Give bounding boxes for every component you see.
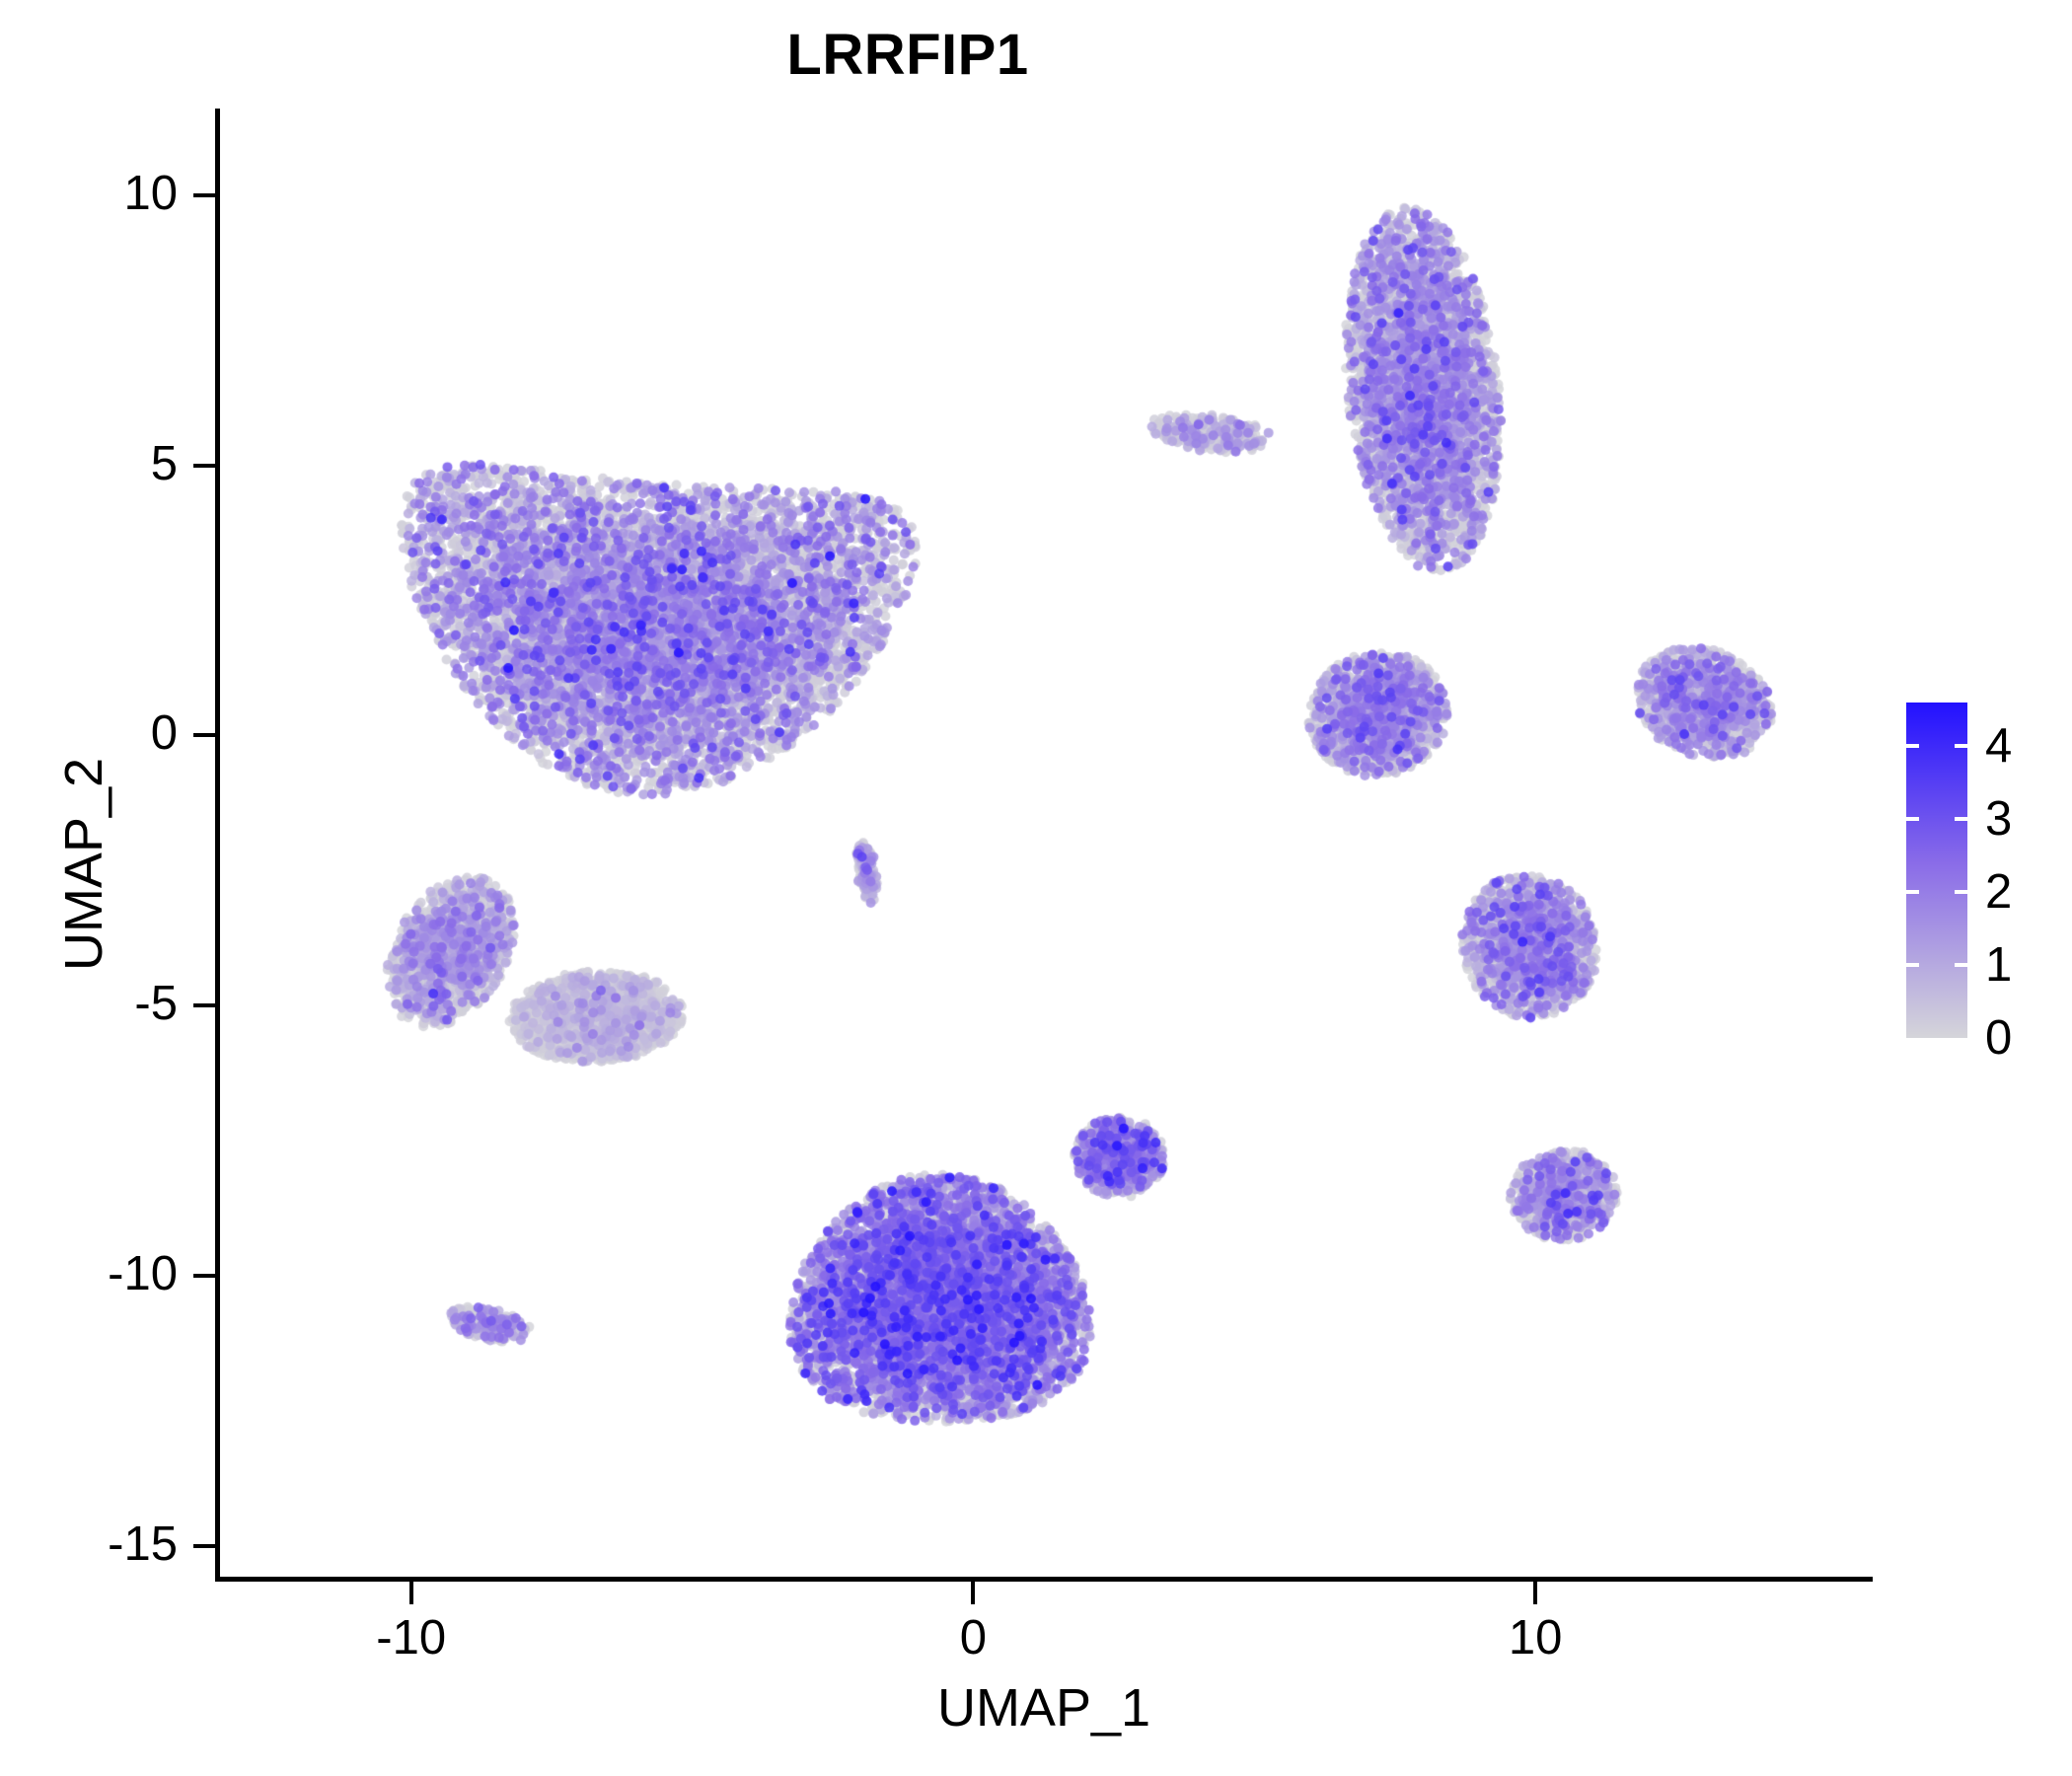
y-axis-tick-label: -5 [134,976,178,1031]
umap-feature-plot: LRRFIP1 1050-5-10-15 -10010 UMAP_1 UMAP_… [0,0,2072,1776]
x-axis-line [215,1577,1873,1582]
scatter-plot-canvas [220,109,1873,1579]
colorbar-tick-label: 1 [1985,937,2012,993]
page-title: LRRFIP1 [0,22,1815,88]
y-axis-tick-label: -10 [108,1246,178,1301]
colorbar-tick-mark [1955,890,1967,894]
colorbar-tick-mark [1906,744,1919,748]
y-axis-tick-label: -15 [108,1517,178,1572]
y-axis-tick-mark [193,733,216,737]
colorbar-tick-label: 0 [1985,1010,2012,1066]
colorbar-tick-mark [1955,744,1967,748]
y-axis-tick-mark [193,464,216,468]
colorbar-tick-label: 4 [1985,718,2012,774]
x-axis-tick-mark [1533,1582,1537,1604]
colorbar-tick-mark [1955,963,1967,967]
colorbar-tick-mark [1906,963,1919,967]
y-axis-tick-label: 5 [151,436,178,491]
y-axis-tick-mark [193,1003,216,1007]
colorbar-legend: 01234 [1906,703,1967,1038]
colorbar-tick-label: 3 [1985,791,2012,847]
x-axis-tick-label: 10 [1509,1610,1563,1665]
x-axis-tick-label: 0 [960,1610,987,1665]
y-axis-tick-mark [193,1544,216,1548]
y-axis-tick-label: 0 [151,705,178,761]
x-axis-tick-mark [409,1582,413,1604]
x-axis-title: UMAP_1 [215,1677,1873,1739]
colorbar-tick-mark [1906,817,1919,821]
y-axis-tick-mark [193,193,216,197]
y-axis-title: UMAP_2 [53,420,114,1308]
y-axis-line [215,109,220,1582]
colorbar-tick-label: 2 [1985,864,2012,920]
colorbar-tick-mark [1906,890,1919,894]
x-axis-tick-label: -10 [376,1610,446,1665]
y-axis-tick-label: 10 [123,166,178,221]
x-axis-tick-mark [971,1582,975,1604]
colorbar-tick-mark [1955,817,1967,821]
colorbar-gradient [1906,703,1967,1038]
y-axis-tick-mark [193,1274,216,1278]
